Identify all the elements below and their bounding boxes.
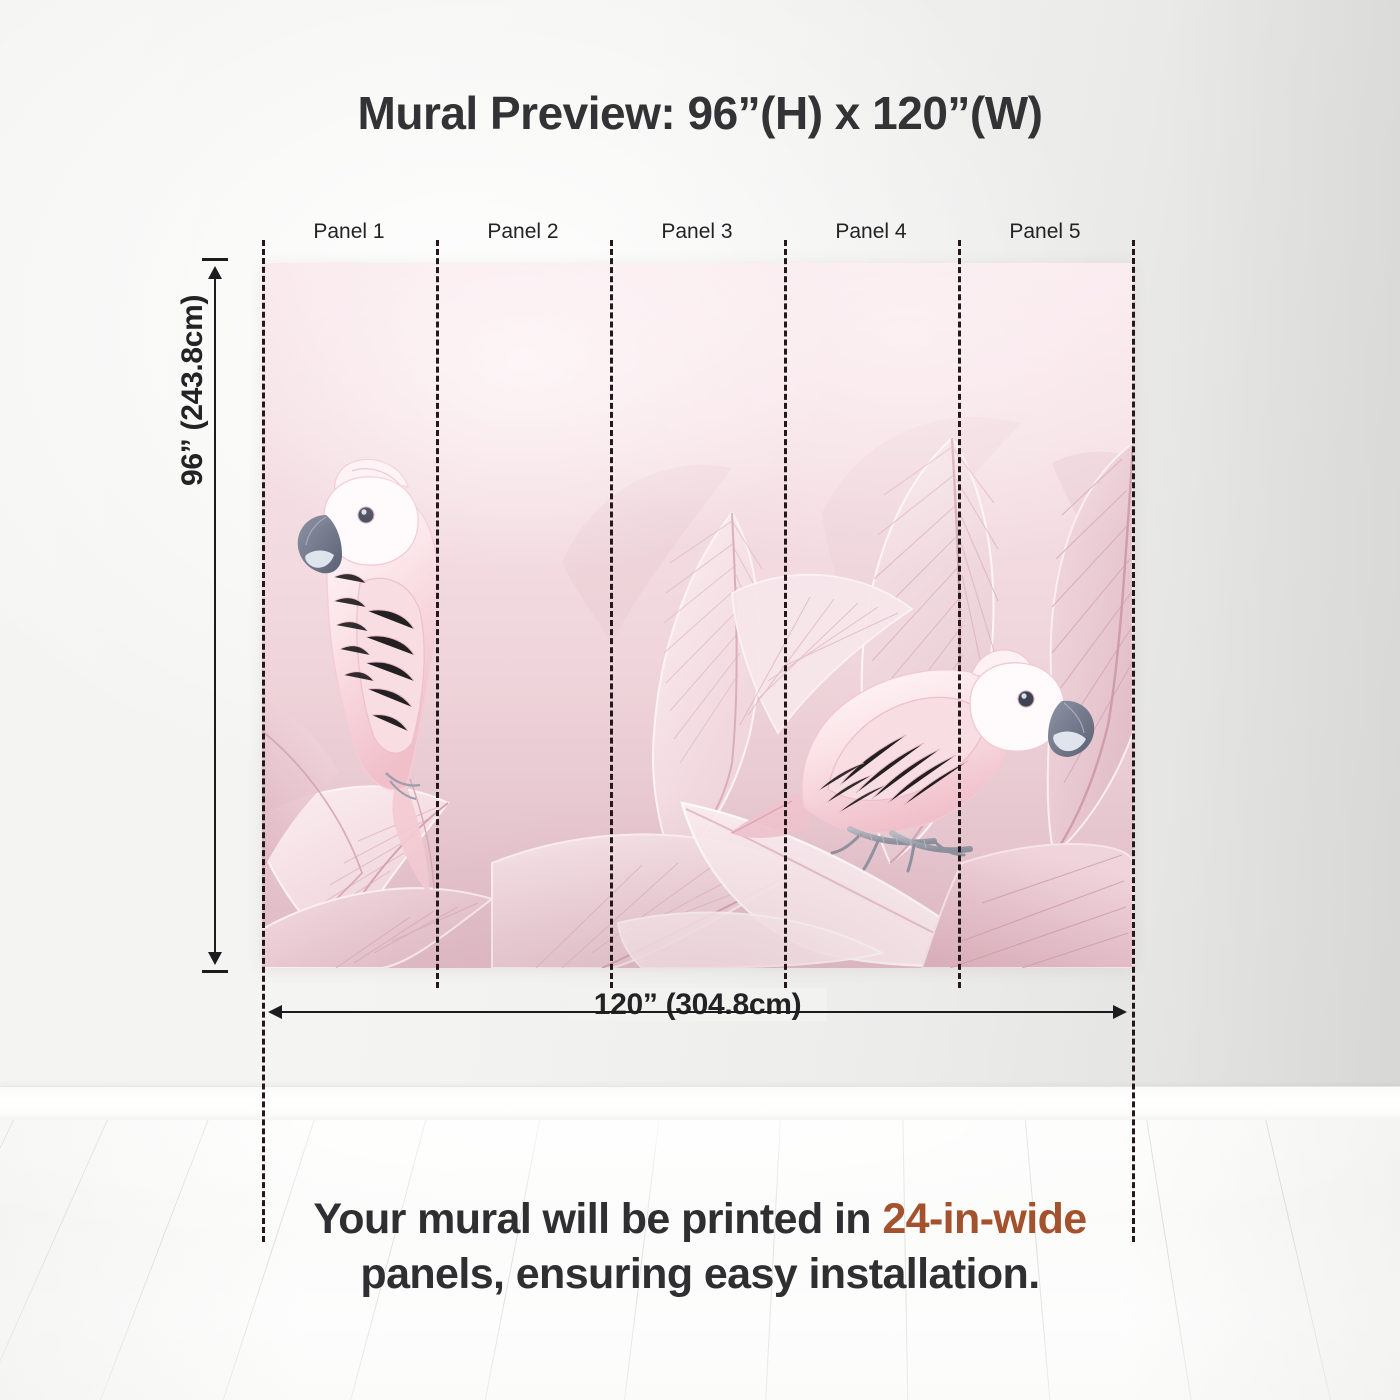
caption-accent-text: 24-in-wide [882,1195,1086,1243]
width-dimension-text: 120” (304.8cm) [568,988,828,1021]
height-dimension-arrow [214,258,216,973]
panel-divider-2 [436,240,439,988]
panel-label-4: Panel 4 [784,220,958,244]
caption: Your mural will be printed in 24-in-wide… [0,1192,1400,1302]
height-line [214,272,216,959]
panel-label-1: Panel 1 [262,220,436,244]
caption-line-1: Your mural will be printed in 24-in-wide [0,1192,1400,1247]
width-line [276,1011,1119,1013]
height-dimension-label: 96” (243.8cm) [176,186,210,486]
panel-label-3: Panel 3 [610,220,784,244]
caption-line-1-text: Your mural will be printed in [313,1195,882,1243]
width-dimension-arrow [262,1011,1133,1013]
page-title: Mural Preview: 96”(H) x 120”(W) [0,86,1400,140]
height-tick-bottom [202,970,228,973]
caption-line-2: panels, ensuring easy installation. [0,1247,1400,1302]
mural-preview-image [262,263,1133,968]
panel-divider-5 [958,240,961,988]
panel-divider-6 [1132,240,1135,1242]
panel-label-5: Panel 5 [958,220,1132,244]
width-dimension-label: 120” (304.8cm) [262,988,1133,1022]
panel-divider-4 [784,240,787,988]
arrow-right-icon [1113,1005,1127,1019]
panel-divider-1 [262,240,265,1242]
mural-artwork [262,263,1133,968]
arrow-down-icon [208,952,222,965]
baseboard [0,1086,1400,1122]
height-tick-top [202,258,228,261]
panel-label-2: Panel 2 [436,220,610,244]
panel-divider-3 [610,240,613,988]
